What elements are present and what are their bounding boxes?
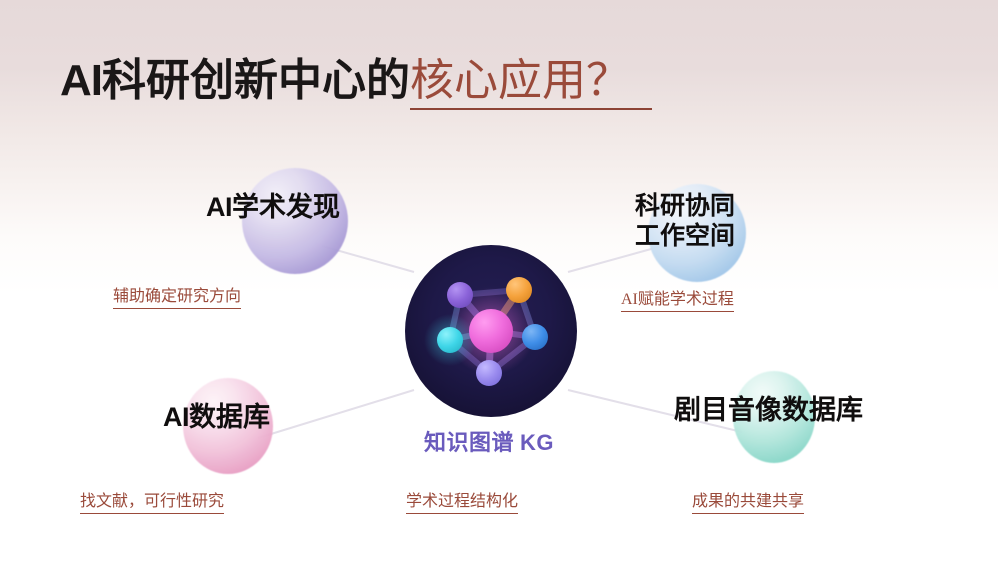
hub-node-left [437, 327, 463, 353]
slide-canvas: AI科研创新中心的核心应用？ [0, 0, 998, 566]
node-label-text: 学术发现 [232, 192, 340, 222]
spoke-line-bottom-left [258, 390, 414, 438]
hub-node-center [469, 309, 513, 353]
hub-label-tag: KG [520, 430, 554, 455]
hub-node-right [522, 324, 548, 350]
hub-label-knowledge-graph: 知识图谱 KG [424, 425, 554, 457]
node-label-text: 数据库 [189, 402, 270, 432]
node-label-line-2: 工作空间 [635, 222, 735, 252]
hub-node-bottom [476, 360, 502, 386]
caption-ai-academic-discovery: 辅助确定研究方向 [113, 287, 241, 309]
node-label-ai-prefix: AI [206, 192, 232, 222]
node-label-line-1: 科研协同 [635, 192, 735, 222]
node-label-ai-database: AI数据库 [163, 402, 270, 434]
node-label-ai-academic-discovery: AI学术发现 [206, 192, 340, 224]
caption-knowledge-graph: 学术过程结构化 [406, 492, 518, 514]
hub-and-spoke-diagram: AI学术发现 科研协同 工作空间 AI数据库 剧目音像数据库 知识图谱 KG 辅… [0, 0, 998, 566]
caption-research-collaboration-workspace: AI赋能学术过程 [621, 290, 734, 312]
caption-repertoire-audiovisual-database: 成果的共建共享 [692, 492, 804, 514]
knowledge-graph-hub-icon[interactable] [405, 245, 577, 417]
node-label-research-collaboration-workspace: 科研协同 工作空间 [635, 192, 735, 251]
hub-label-cn: 知识图谱 [424, 430, 514, 455]
node-label-repertoire-audiovisual-database: 剧目音像数据库 [674, 395, 863, 427]
caption-ai-database: 找文献，可行性研究 [80, 492, 224, 514]
node-label-ai-prefix: AI [163, 402, 189, 432]
hub-node-top-right [506, 277, 532, 303]
hub-node-top-left [447, 282, 473, 308]
